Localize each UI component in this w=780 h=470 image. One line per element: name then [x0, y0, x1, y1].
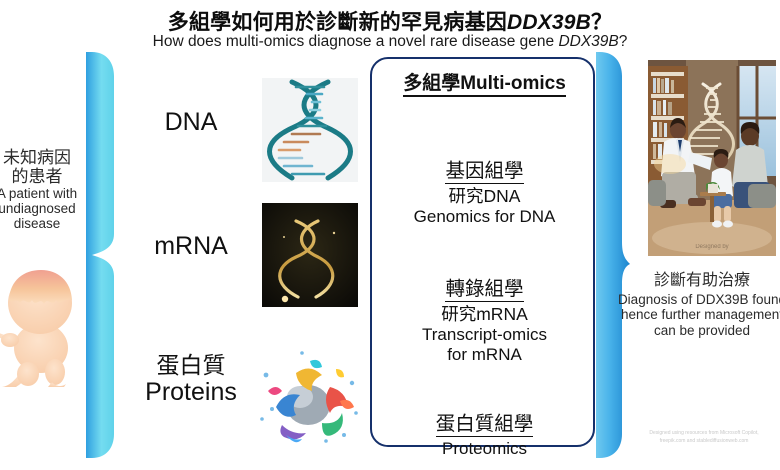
title-zh-gene: DDX39B [507, 11, 591, 34]
omics-block-proteomics: 蛋白質組學 Proteomics [372, 407, 597, 459]
row-label-dna: DNA [126, 108, 256, 137]
row-label-proteins-zh: 蛋白質 [126, 352, 256, 378]
title-zh-text: 多組學如何用於診斷新的罕見病基因 [168, 11, 507, 34]
transcriptomics-en-line2: for mRNA [372, 345, 597, 365]
transcriptomics-heading: 轉錄組學 [445, 272, 523, 302]
omics-title-zh: 多組學 [403, 73, 460, 97]
row-label-mrna-text: mRNA [126, 232, 256, 261]
genomics-heading: 基因組學 [445, 154, 523, 184]
right-blue-bracket [596, 52, 630, 458]
row-label-dna-text: DNA [126, 108, 256, 137]
omics-title-en: Multi-omics [460, 73, 566, 97]
mrna-helix-image [262, 203, 358, 307]
patient-caption-en-line3: disease [0, 216, 92, 231]
page-title-english: How does multi-omics diagnose a novel ra… [0, 33, 780, 51]
proteomics-en: Proteomics [372, 439, 597, 459]
image-credit-line1: Designed using resources from Microsoft … [624, 430, 780, 438]
page-title-chinese: 多組學如何用於診斷新的罕見病基因DDX39B？ [0, 6, 780, 36]
genomics-sub: 研究DNA [372, 186, 597, 207]
genomics-en: Genomics for DNA [372, 207, 597, 227]
image-credit-line2: freepik.com and stablediffusionweb.com [624, 438, 780, 446]
title-en-text: How does multi-omics diagnose a novel ra… [153, 33, 559, 50]
slide-canvas: 多組學如何用於診斷新的罕見病基因DDX39B？ How does multi-o… [0, 0, 780, 470]
image-credit: Designed using resources from Microsoft … [624, 430, 780, 445]
baby-illustration-image [0, 262, 94, 387]
left-cyan-bracket [86, 52, 116, 458]
multi-omics-panel-title: 多組學Multi-omics [372, 68, 597, 95]
outcome-caption: 診斷有助治療 Diagnosis of DDX39B found hence f… [612, 272, 780, 339]
patient-caption-en-line1: A patient with [0, 186, 92, 201]
outcome-caption-zh: 診斷有助治療 [612, 272, 780, 291]
proteomics-heading: 蛋白質組學 [436, 407, 534, 437]
patient-caption-zh-line1: 未知病因 [0, 148, 92, 167]
patient-caption-en-line2: undiagnosed [0, 201, 92, 216]
doctor-consultation-image: Designed by [648, 60, 776, 256]
title-en-tail: ? [619, 33, 628, 50]
title-en-gene: DDX39B [558, 33, 618, 50]
outcome-caption-en-line3: can be provided [612, 323, 780, 339]
svg-text:Designed by: Designed by [695, 244, 728, 250]
protein-structure-image [256, 347, 362, 447]
omics-block-transcriptomics: 轉錄組學 研究mRNA Transcript-omics for mRNA [372, 272, 597, 365]
transcriptomics-en-line1: Transcript-omics [372, 325, 597, 345]
multi-omics-panel: 多組學Multi-omics 基因組學 研究DNA Genomics for D… [370, 57, 595, 447]
row-label-mrna: mRNA [126, 232, 256, 261]
patient-caption: 未知病因 的患者 A patient with undiagnosed dise… [0, 148, 92, 231]
dna-double-helix-image [262, 78, 358, 182]
omics-block-genomics: 基因組學 研究DNA Genomics for DNA [372, 154, 597, 227]
transcriptomics-sub: 研究mRNA [372, 304, 597, 325]
patient-caption-zh-line2: 的患者 [0, 167, 92, 186]
row-label-proteins: 蛋白質 Proteins [126, 352, 256, 407]
title-zh-tail: ？ [591, 11, 612, 34]
row-label-proteins-en: Proteins [126, 378, 256, 407]
outcome-caption-en-line1: Diagnosis of DDX39B found [612, 292, 780, 308]
outcome-caption-en-line2: hence further management [612, 307, 780, 323]
